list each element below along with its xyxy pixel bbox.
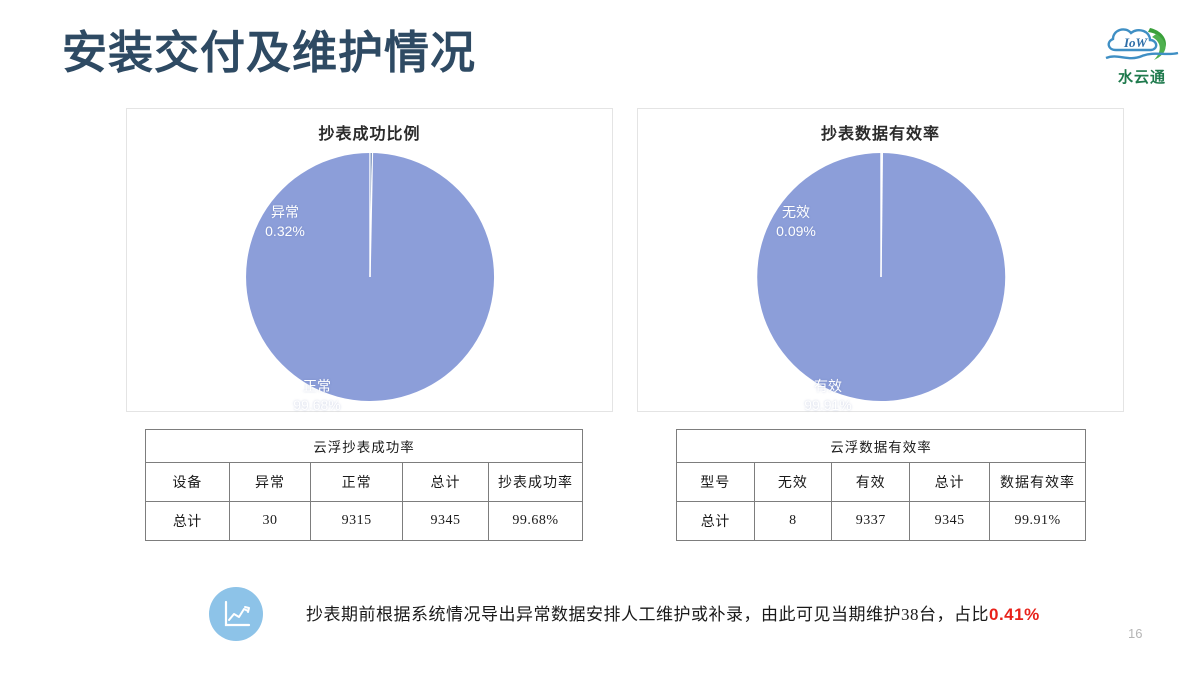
pie-label-normal: 正常 99.68% [272,377,362,415]
logo-cloud-icon: IoW [1098,20,1186,70]
brand-logo: IoW 水云通 [1098,20,1186,98]
table-cell: 总计 [677,502,755,541]
table-header-cell: 无效 [754,463,832,502]
table-cell: 30 [229,502,311,541]
table-header-cell: 总计 [910,463,990,502]
table-header-cell: 数据有效率 [990,463,1086,502]
table-header-cell: 异常 [229,463,311,502]
table-caption-row: 云浮数据有效率 [677,430,1086,463]
table-caption: 云浮数据有效率 [677,430,1086,463]
line-chart-glyph [209,587,263,641]
chart-panel-reading-success: 抄表成功比例 异常 0.32% 正常 99.68% [126,108,613,412]
page-title: 安装交付及维护情况 [62,16,476,81]
table-cell: 8 [754,502,832,541]
table-data-validity-rate: 云浮数据有效率 型号 无效 有效 总计 数据有效率 总计 8 9337 9345… [676,429,1086,541]
footer-note-highlight: 0.41% [989,605,1040,624]
table-header-row: 设备 异常 正常 总计 抄表成功率 [146,463,583,502]
footer-note-text: 抄表期前根据系统情况导出异常数据安排人工维护或补录，由此可见当期维护38台，占比 [306,605,989,624]
table-row: 总计 8 9337 9345 99.91% [677,502,1086,541]
table-cell: 9337 [832,502,910,541]
table-cell: 99.68% [488,502,582,541]
footer-note: 抄表期前根据系统情况导出异常数据安排人工维护或补录，由此可见当期维护38台，占比… [306,600,1040,625]
pie-chart-reading-success: 异常 0.32% 正常 99.68% [127,151,612,403]
line-chart-icon [209,587,263,641]
table-cell: 9345 [403,502,489,541]
table-cell: 99.91% [990,502,1086,541]
table-header-row: 型号 无效 有效 总计 数据有效率 [677,463,1086,502]
page-number: 16 [1128,626,1142,641]
pie-label-abnormal: 异常 0.32% [245,203,325,241]
table-cell: 总计 [146,502,230,541]
pie-svg-data-validity [755,151,1007,403]
table-cell: 9345 [910,502,990,541]
table-reading-success-rate: 云浮抄表成功率 设备 异常 正常 总计 抄表成功率 总计 30 9315 934… [145,429,583,541]
table-header-cell: 抄表成功率 [488,463,582,502]
table-header-cell: 正常 [311,463,403,502]
table-header-cell: 有效 [832,463,910,502]
chart-title: 抄表数据有效率 [638,120,1123,144]
pie-svg-reading-success [244,151,496,403]
pie-label-valid: 有效 99.91% [783,377,873,415]
table-cell: 9315 [311,502,403,541]
table-header-cell: 设备 [146,463,230,502]
pie-chart-data-validity: 无效 0.09% 有效 99.91% [638,151,1123,403]
svg-text:IoW: IoW [1123,35,1149,50]
logo-text: 水云通 [1098,68,1186,88]
table-header-cell: 总计 [403,463,489,502]
chart-panel-data-validity: 抄表数据有效率 无效 0.09% 有效 99.91% [637,108,1124,412]
pie-label-invalid: 无效 0.09% [756,203,836,241]
table-caption: 云浮抄表成功率 [146,430,583,463]
chart-title: 抄表成功比例 [127,120,612,144]
table-row: 总计 30 9315 9345 99.68% [146,502,583,541]
table-header-cell: 型号 [677,463,755,502]
table-caption-row: 云浮抄表成功率 [146,430,583,463]
